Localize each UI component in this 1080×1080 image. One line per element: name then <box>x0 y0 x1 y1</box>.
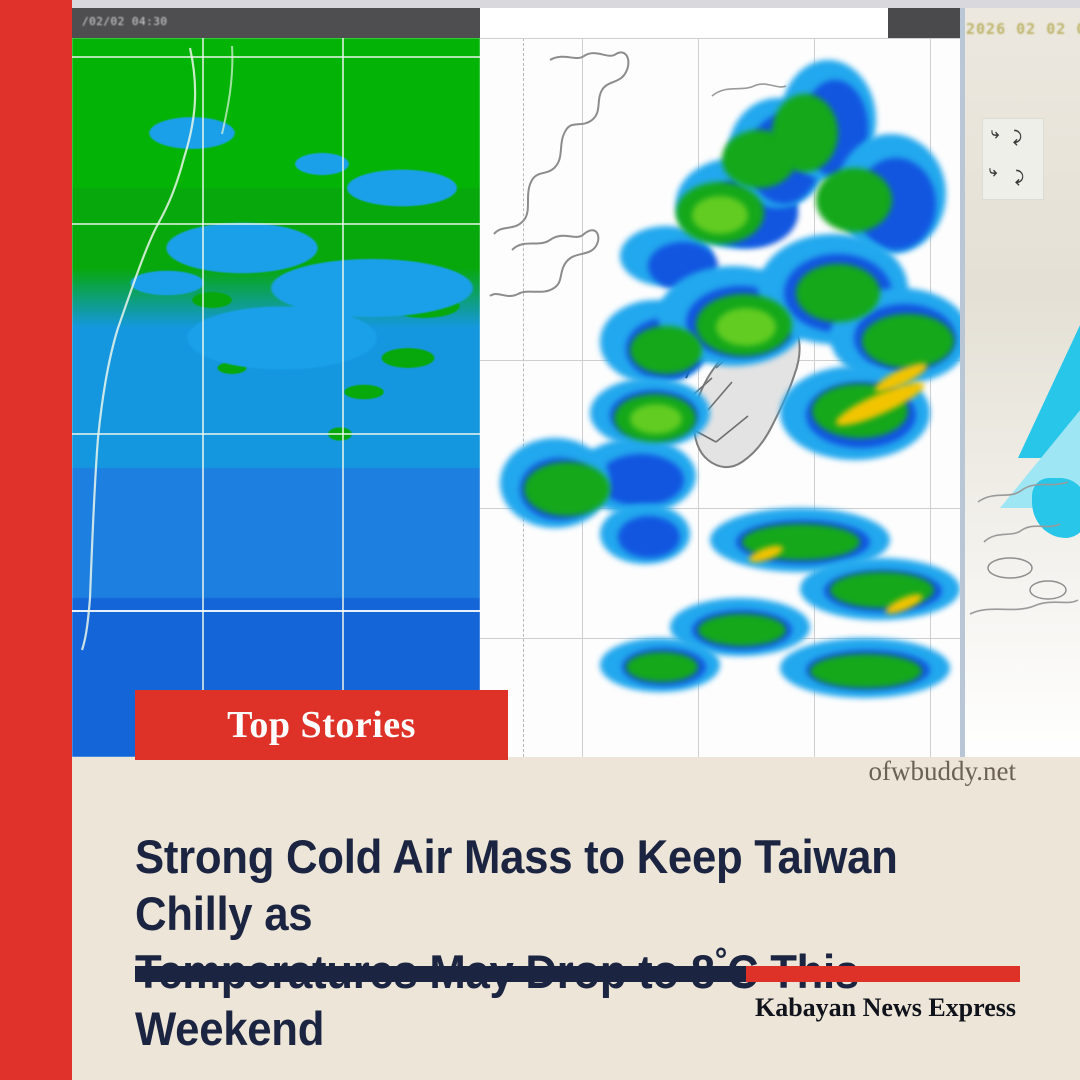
weather-symbol-icon: ⤷ <box>991 125 999 142</box>
surface-analysis-panel: ⤷ ⤸ ⤷ ⤸ 2026 02 02 0 <box>960 8 1080 757</box>
divider-rule <box>135 966 1020 982</box>
divider-red-segment <box>746 966 1020 982</box>
radar-echo <box>618 516 680 558</box>
satellite-coastline <box>72 38 480 757</box>
surface-map-timestamp: 2026 02 02 0 <box>966 20 1080 38</box>
radar-echo <box>524 462 610 516</box>
radar-echo <box>830 572 934 608</box>
satellite-timestamp: /02/02 04:30 <box>82 15 167 28</box>
image-top-strip <box>72 0 1080 8</box>
hero-image: /02/02 04:30 <box>72 8 1080 757</box>
radar-echo <box>630 326 702 374</box>
radar-echo <box>692 196 748 234</box>
map-legend-box: ⤷ ⤸ ⤷ ⤸ <box>982 118 1044 200</box>
radar-echo <box>796 264 880 322</box>
site-watermark: ofwbuddy.net <box>869 756 1016 787</box>
radar-echo <box>772 94 838 172</box>
left-red-rail <box>0 0 72 1080</box>
radar-header-bar: 2026/02/02 04:40 <box>888 8 960 38</box>
radar-echo <box>716 308 776 346</box>
news-card: /02/02 04:30 <box>0 0 1080 1080</box>
radar-echo <box>598 454 684 506</box>
radar-echo <box>810 654 922 688</box>
satellite-header-bar: /02/02 04:30 <box>72 8 480 38</box>
radar-reflectivity-panel: 2026/02/02 04:40 <box>480 8 960 757</box>
weather-symbol-icon: ⤷ <box>989 163 997 180</box>
headline-line-1: Strong Cold Air Mass to Keep Taiwan Chil… <box>135 828 958 943</box>
top-stories-banner[interactable]: Top Stories <box>135 690 508 760</box>
surface-coastlines <box>960 438 1080 757</box>
radar-echo <box>630 404 682 434</box>
divider-navy-segment <box>135 966 746 982</box>
satellite-temperature-panel: /02/02 04:30 <box>72 8 480 757</box>
radar-echo <box>626 652 698 682</box>
radar-echo <box>698 614 786 646</box>
publisher-byline: Kabayan News Express <box>755 993 1016 1023</box>
weather-symbol-icon: ⤸ <box>1013 129 1022 146</box>
radar-echo <box>816 168 892 232</box>
surface-map: ⤷ ⤸ ⤷ ⤸ 2026 02 02 0 <box>960 8 1080 757</box>
radar-canvas <box>480 38 960 757</box>
top-stories-label: Top Stories <box>227 703 416 747</box>
radar-echo <box>862 314 954 368</box>
weather-symbol-icon: ⤸ <box>1015 169 1024 186</box>
